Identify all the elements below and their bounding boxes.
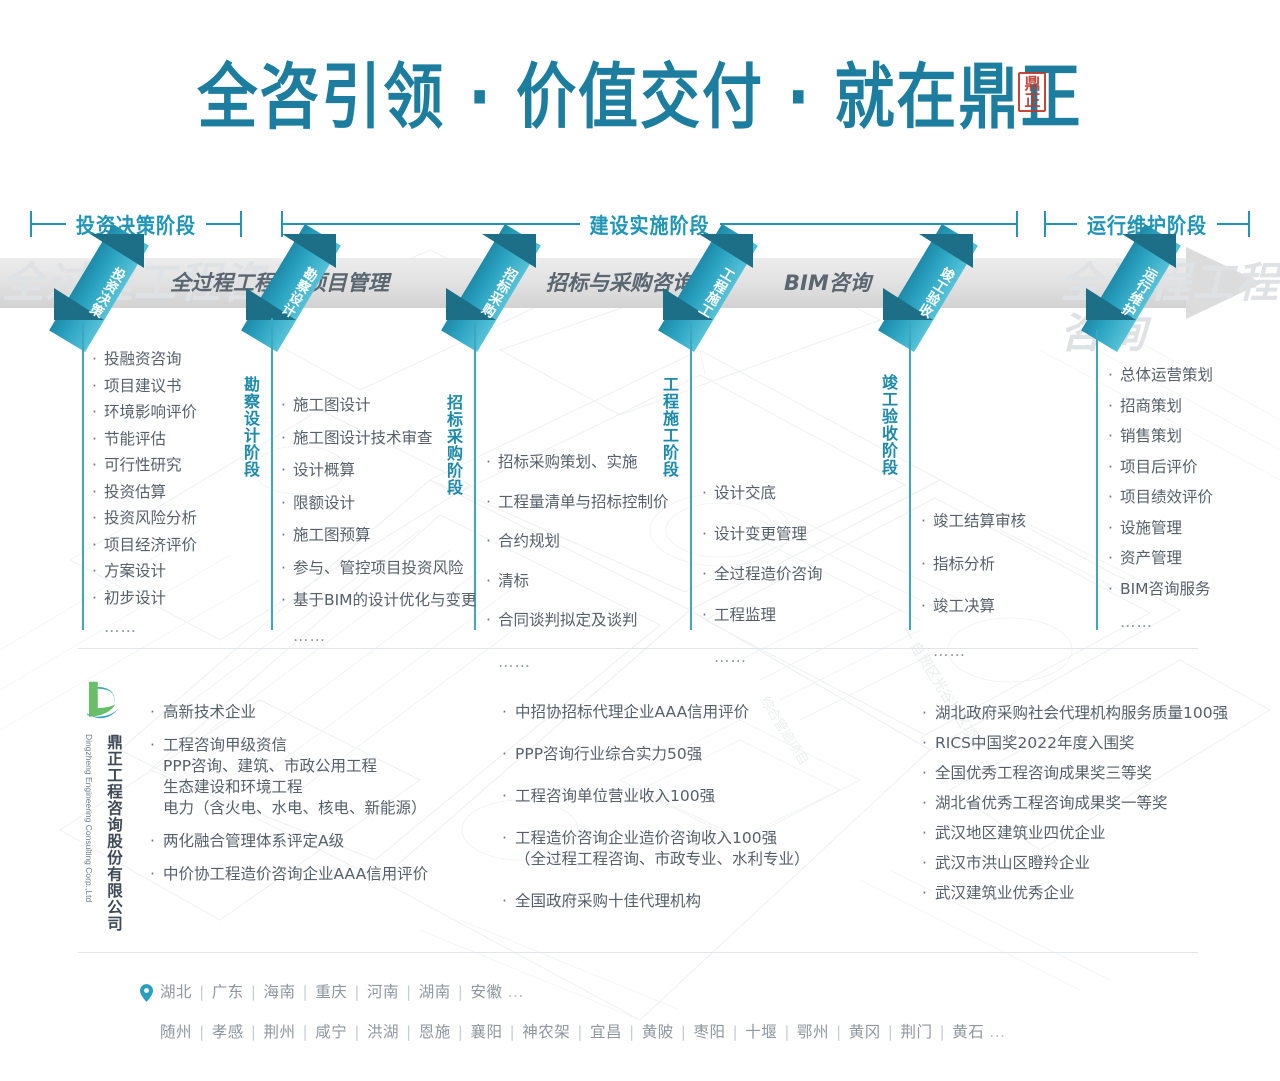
more-indicator[interactable]: ... (989, 1023, 1005, 1041)
list-item: 武汉地区建筑业四优企业 (920, 823, 1228, 844)
list-item: 施工图预算 (281, 528, 477, 544)
list-item: 武汉建筑业优秀企业 (920, 883, 1228, 904)
separator: | (510, 1023, 516, 1041)
stem-operation (1096, 330, 1098, 630)
list-item: 全国政府采购十佳代理机构 (500, 891, 810, 912)
list-item: 竣工结算审核 (921, 514, 1026, 530)
list-item: 工程量清单与招标控制价 (486, 495, 668, 511)
list-item: 投资估算 (92, 485, 197, 501)
stem-investment (82, 322, 84, 630)
region-item[interactable]: 黄石 (952, 1023, 984, 1041)
cred-main: RICS中国奖2022年度入围奖 (935, 734, 1134, 752)
credentials-middle: 中招协招标代理企业AAA信用评价 PPP咨询行业综合实力50强 工程咨询单位营业… (500, 702, 810, 924)
list-item: 方案设计 (92, 564, 197, 580)
list-item: 工程监理 (702, 608, 822, 624)
stem-completion (909, 320, 911, 630)
cred-main: 中招协招标代理企业AAA信用评价 (515, 703, 749, 721)
region-item[interactable]: 鄂州 (797, 1023, 829, 1041)
region-item[interactable]: 宜昌 (590, 1023, 622, 1041)
region-item[interactable]: 十堰 (745, 1023, 777, 1041)
region-item[interactable]: 洪湖 (367, 1023, 399, 1041)
credentials-left: 高新技术企业 工程咨询甲级资信 PPP咨询、建筑、市政公用工程 生态建设和环境工… (148, 702, 428, 897)
separator: | (458, 983, 464, 1001)
rule-left (283, 223, 580, 225)
cred-main: 工程造价咨询企业造价咨询收入100强 (515, 829, 777, 847)
list-item: 指标分析 (921, 557, 1026, 573)
separator: | (681, 1023, 687, 1041)
phase-header-construction: 建设实施阶段 (281, 208, 1018, 240)
list-item: 合约规划 (486, 534, 668, 550)
separator: | (251, 983, 257, 1001)
region-item[interactable]: 孝感 (212, 1023, 244, 1041)
cred-sub: 生态建设和环境工程 (163, 777, 428, 798)
region-item[interactable]: 襄阳 (471, 1023, 503, 1041)
cred-sub: PPP咨询、建筑、市政公用工程 (163, 756, 428, 777)
footer-divider (78, 952, 1198, 953)
separator: | (199, 1023, 205, 1041)
list-item: 项目绩效评价 (1108, 490, 1213, 506)
separator: | (458, 1023, 464, 1041)
region-item[interactable]: 荆门 (901, 1023, 933, 1041)
cred-main: 工程咨询甲级资信 (163, 736, 287, 754)
list-item: 工程咨询甲级资信 PPP咨询、建筑、市政公用工程 生态建设和环境工程 电力（含火… (148, 735, 428, 819)
list-item: RICS中国奖2022年度入围奖 (920, 733, 1228, 754)
ribbon-completion-acceptance: 竣工验收 (889, 238, 985, 330)
cred-main: 武汉地区建筑业四优企业 (935, 824, 1106, 842)
separator: | (940, 1023, 946, 1041)
separator: | (733, 1023, 739, 1041)
cred-main: 湖北省优秀工程咨询成果奖一等奖 (935, 794, 1168, 812)
list-item: 参与、管控项目投资风险 (281, 561, 477, 577)
region-item[interactable]: 重庆 (315, 983, 347, 1001)
list-item: 设计变更管理 (702, 527, 822, 543)
rule-right (1217, 223, 1248, 225)
footer-provinces: 湖北|广东|海南|重庆|河南|湖南|安徽... (160, 981, 524, 1003)
list-item: 全国优秀工程咨询成果奖三等奖 (920, 763, 1228, 784)
list-ellipsis: …… (921, 644, 1026, 660)
column-vertical-label: 招标采购阶段 (442, 394, 465, 496)
section-divider (78, 648, 1198, 649)
list-ellipsis: …… (92, 620, 197, 636)
cred-main: 中价协工程造价咨询企业AAA信用评价 (163, 865, 428, 883)
title-area: 全咨引领 · 价值交付 · 就在鼎正 (0, 60, 1280, 160)
list-item: 招标采购策划、实施 (486, 455, 668, 471)
region-item[interactable]: 咸宁 (315, 1023, 347, 1041)
cred-main: 高新技术企业 (163, 703, 256, 721)
service-list: 投融资咨询 项目建议书 环境影响评价 节能评估 可行性研究 投资估算 投资风险分… (92, 352, 197, 636)
list-ellipsis: …… (1108, 615, 1213, 631)
separator: | (199, 983, 205, 1001)
cred-main: 武汉市洪山区瞪羚企业 (935, 854, 1090, 872)
list-item: 合同谈判拟定及谈判 (486, 613, 668, 629)
list-item: 基于BIM的设计优化与变更 (281, 593, 477, 609)
more-indicator[interactable]: ... (508, 983, 524, 1001)
service-list: 招标采购策划、实施 工程量清单与招标控制价 合约规划 清标 合同谈判拟定及谈判 … (486, 455, 668, 670)
separator: | (303, 983, 309, 1001)
list-item: PPP咨询行业综合实力50强 (500, 744, 810, 765)
credentials-right: 湖北政府采购社会代理机构服务质量100强 RICS中国奖2022年度入围奖 全国… (920, 703, 1228, 916)
list-item: 投融资咨询 (92, 352, 197, 368)
separator: | (577, 1023, 583, 1041)
list-ellipsis: …… (702, 650, 822, 666)
ribbon-bidding-procurement: 招标采购 (452, 238, 548, 330)
list-item: 中招协招标代理企业AAA信用评价 (500, 702, 810, 723)
cred-main: 湖北政府采购社会代理机构服务质量100强 (935, 704, 1228, 722)
list-item: 资产管理 (1108, 551, 1213, 567)
cred-sub: 电力（含火电、水电、核电、新能源） (163, 798, 428, 819)
separator: | (354, 1023, 360, 1041)
list-item: 湖北政府采购社会代理机构服务质量100强 (920, 703, 1228, 724)
cred-main: 武汉建筑业优秀企业 (935, 884, 1075, 902)
list-item: 项目经济评价 (92, 538, 197, 554)
service-list: 总体运营策划 招商策划 销售策划 项目后评价 项目绩效评价 设施管理 资产管理 … (1108, 368, 1213, 631)
ribbon-operation-maintenance: 运行维护 (1092, 238, 1188, 330)
separator: | (303, 1023, 309, 1041)
service-list: 竣工结算审核 指标分析 竣工决算 …… (921, 514, 1026, 659)
list-ellipsis: …… (486, 655, 668, 671)
region-item[interactable]: 湖北 (160, 983, 192, 1001)
separator: | (784, 1023, 790, 1041)
list-item: 全过程造价咨询 (702, 567, 822, 583)
separator: | (406, 983, 412, 1001)
list-item: 高新技术企业 (148, 702, 428, 723)
location-pin-icon (140, 984, 153, 1002)
list-item: 节能评估 (92, 432, 197, 448)
separator: | (354, 983, 360, 1001)
footer-cities: 随州|孝感|荆州|咸宁|洪湖|恩施|襄阳|神农架|宜昌|黄陂|枣阳|十堰|鄂州|… (160, 1021, 1006, 1043)
region-item[interactable]: 安徽 (471, 983, 503, 1001)
ribbon-investment-decision: 投资决策 (60, 238, 156, 330)
rule-left (1046, 223, 1077, 225)
list-item: 湖北省优秀工程咨询成果奖一等奖 (920, 793, 1228, 814)
company-name-cn: 鼎正工程咨询股份有限公司 (104, 734, 124, 932)
cred-main: 两化融合管理体系评定A级 (163, 832, 344, 850)
cred-main: 工程咨询单位营业收入100强 (515, 787, 715, 805)
company-seal-stamp: 鼎正 (1018, 72, 1046, 112)
list-item: 设施管理 (1108, 521, 1213, 537)
ribbon-engineering-construction: 工程施工 (669, 238, 765, 330)
column-vertical-label: 竣工验收阶段 (877, 374, 900, 476)
region-item[interactable]: 恩施 (419, 1023, 451, 1041)
page-title: 全咨引领 · 价值交付 · 就在鼎正 (197, 53, 1082, 143)
company-logo-block: 鼎正工程咨询股份有限公司 Dingzheng Engineering Consu… (82, 678, 142, 729)
rule-right (720, 223, 1017, 225)
list-item: 工程造价咨询企业造价咨询收入100强 （全过程工程咨询、市政专业、水利专业） (500, 828, 810, 870)
list-item: 竣工决算 (921, 599, 1026, 615)
separator: | (406, 1023, 412, 1041)
region-item[interactable]: 海南 (264, 983, 296, 1001)
list-item: BIM咨询服务 (1108, 582, 1213, 598)
list-item: 武汉市洪山区瞪羚企业 (920, 853, 1228, 874)
cred-sub: （全过程工程咨询、市政专业、水利专业） (515, 849, 810, 870)
column-vertical-label: 勘察设计阶段 (239, 376, 262, 478)
banner-segment-bim: BIM咨询 (784, 258, 871, 308)
cred-main: PPP咨询行业综合实力50强 (515, 745, 702, 763)
region-item[interactable]: 随州 (160, 1023, 192, 1041)
rule-right (206, 223, 240, 225)
list-item: 中价协工程造价咨询企业AAA信用评价 (148, 864, 428, 885)
stem-construction (690, 320, 692, 630)
separator: | (836, 1023, 842, 1041)
region-item[interactable]: 湖南 (419, 983, 451, 1001)
list-item: 环境影响评价 (92, 405, 197, 421)
cred-main: 全国政府采购十佳代理机构 (515, 892, 701, 910)
region-item[interactable]: 荆州 (264, 1023, 296, 1041)
ribbon-survey-design: 勘察设计 (252, 238, 348, 330)
bracket-right (240, 211, 242, 237)
region-item[interactable]: 广东 (212, 983, 244, 1001)
service-list: 设计交底 设计变更管理 全过程造价咨询 工程监理 …… (702, 486, 822, 666)
dingzheng-logo-icon (82, 678, 124, 724)
list-item: 工程咨询单位营业收入100强 (500, 786, 810, 807)
separator: | (629, 1023, 635, 1041)
list-item: 投资风险分析 (92, 511, 197, 527)
column-vertical-label: 工程施工阶段 (658, 376, 681, 478)
list-item: 项目建议书 (92, 379, 197, 395)
list-item: 设计交底 (702, 486, 822, 502)
stem-survey (271, 318, 273, 630)
bracket-right (1248, 211, 1250, 237)
region-item[interactable]: 枣阳 (694, 1023, 726, 1041)
rule-left (32, 223, 66, 225)
list-item: 销售策划 (1108, 429, 1213, 445)
cred-main: 全国优秀工程咨询成果奖三等奖 (935, 764, 1152, 782)
list-item: 初步设计 (92, 591, 197, 607)
list-ellipsis: …… (281, 629, 477, 645)
list-item: 可行性研究 (92, 458, 197, 474)
region-item[interactable]: 神农架 (522, 1023, 570, 1041)
separator: | (888, 1023, 894, 1041)
list-item: 限额设计 (281, 496, 477, 512)
list-item: 招商策划 (1108, 399, 1213, 415)
list-item: 总体运营策划 (1108, 368, 1213, 384)
company-name-en: Dingzheng Engineering Consulting Corp.,L… (84, 734, 94, 902)
region-item[interactable]: 黄冈 (849, 1023, 881, 1041)
separator: | (251, 1023, 257, 1041)
list-item: 项目后评价 (1108, 460, 1213, 476)
list-item: 两化融合管理体系评定A级 (148, 831, 428, 852)
list-item: 清标 (486, 574, 668, 590)
region-item[interactable]: 黄陂 (642, 1023, 674, 1041)
region-item[interactable]: 河南 (367, 983, 399, 1001)
bracket-right (1016, 211, 1018, 237)
